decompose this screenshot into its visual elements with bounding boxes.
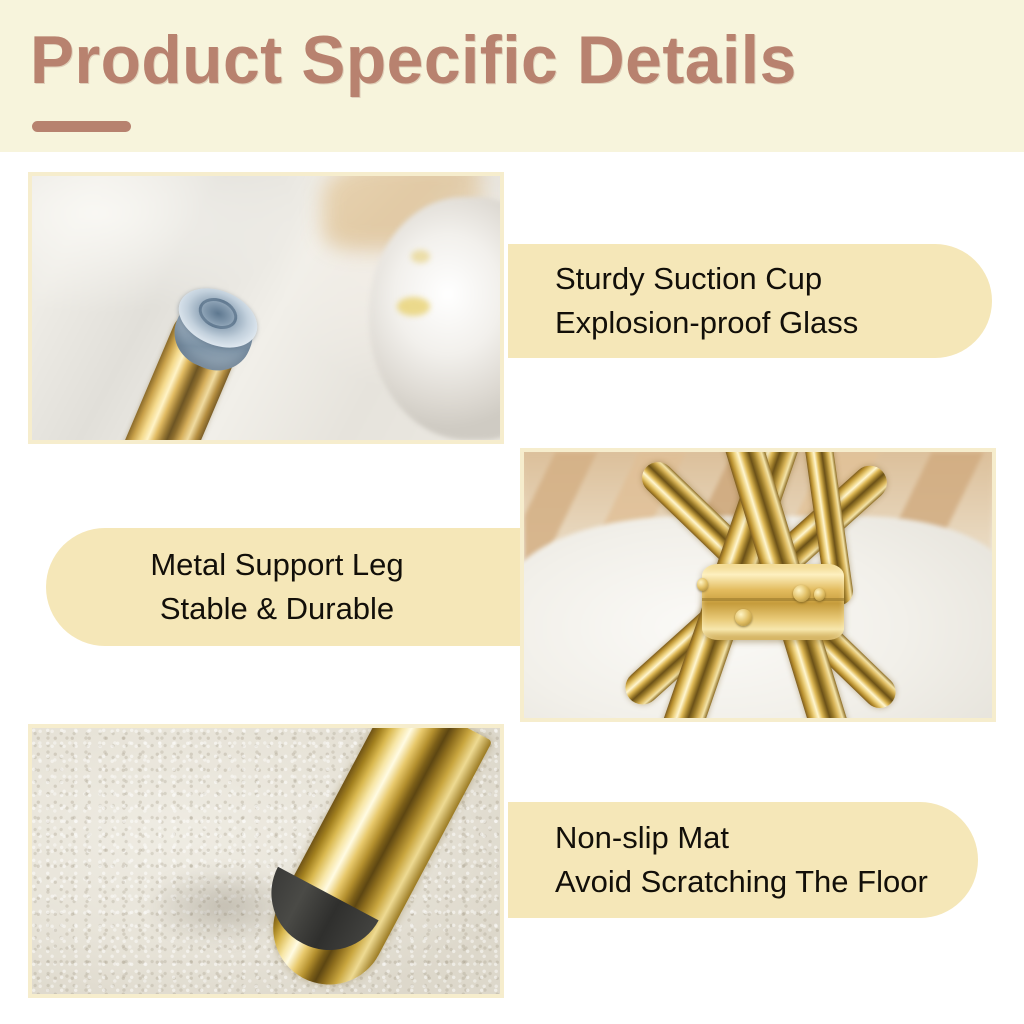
non-slip-mat-scene [32,728,500,994]
page-title: Product Specific Details [30,22,797,98]
title-underline-rule [32,121,131,132]
collar-screw-right [793,585,810,602]
header-band: Product Specific Details [0,0,1024,152]
feature-photo-suction-cup [28,172,504,444]
suction-cup-scene [32,176,500,440]
support-leg-scene [524,452,992,718]
vase-highlight-spot-secondary [411,250,430,263]
callout-suction-cup: Sturdy Suction Cup Explosion-proof Glass [508,244,992,358]
callout-line-secondary: Stable & Durable [160,587,394,631]
callout-line-primary: Sturdy Suction Cup [555,257,822,301]
callout-line-primary: Metal Support Leg [150,543,403,587]
callout-non-slip-mat: Non-slip Mat Avoid Scratching The Floor [508,802,978,918]
callout-line-secondary: Avoid Scratching The Floor [555,860,928,904]
callout-line-secondary: Explosion-proof Glass [555,301,858,345]
product-details-infographic: Product Specific Details Sturdy Suction … [0,0,1024,1024]
feature-photo-non-slip-mat [28,724,504,998]
collar-screw-side [814,588,825,601]
vase-highlight-spot [397,297,430,315]
callout-line-primary: Non-slip Mat [555,816,729,860]
collar-screw-front [735,609,752,626]
feature-photo-support-leg [520,448,996,722]
gold-collar-joint [702,564,844,640]
callout-support-leg: Metal Support Leg Stable & Durable [46,528,522,646]
